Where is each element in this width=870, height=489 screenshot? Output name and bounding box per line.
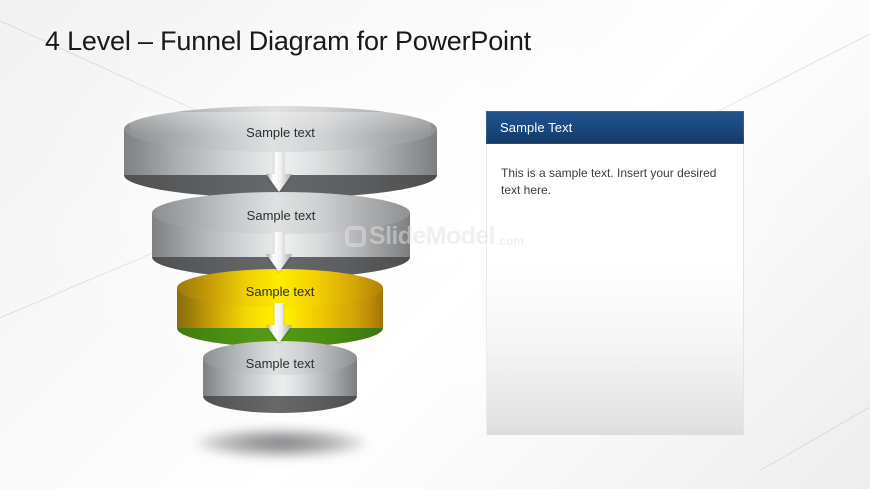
slide-canvas: 4 Level – Funnel Diagram for PowerPoint …	[0, 0, 870, 489]
text-panel: Sample Text This is a sample text. Inser…	[486, 111, 744, 435]
background-diagonal-line	[760, 360, 870, 471]
text-panel-header-title: Sample Text	[486, 120, 572, 135]
text-panel-header[interactable]: Sample Text	[486, 111, 744, 144]
funnel-level-4-label: Sample text	[203, 356, 357, 371]
background-diagonal-line	[700, 2, 870, 121]
down-arrow-icon-3	[264, 303, 294, 347]
down-arrow-icon-1	[264, 152, 294, 196]
funnel-level-1-label: Sample text	[124, 125, 437, 140]
text-panel-paragraph: This is a sample text. Insert your desir…	[487, 144, 743, 199]
funnel-level-2-label: Sample text	[152, 208, 410, 223]
funnel-drop-shadow	[196, 428, 366, 458]
text-panel-body[interactable]: This is a sample text. Insert your desir…	[486, 144, 744, 435]
down-arrow-icon-2	[264, 232, 294, 276]
funnel-level-4[interactable]: Sample text	[203, 341, 357, 413]
funnel-diagram: Sample text Sample text	[0, 0, 470, 489]
funnel-level-3-label: Sample text	[177, 284, 383, 299]
